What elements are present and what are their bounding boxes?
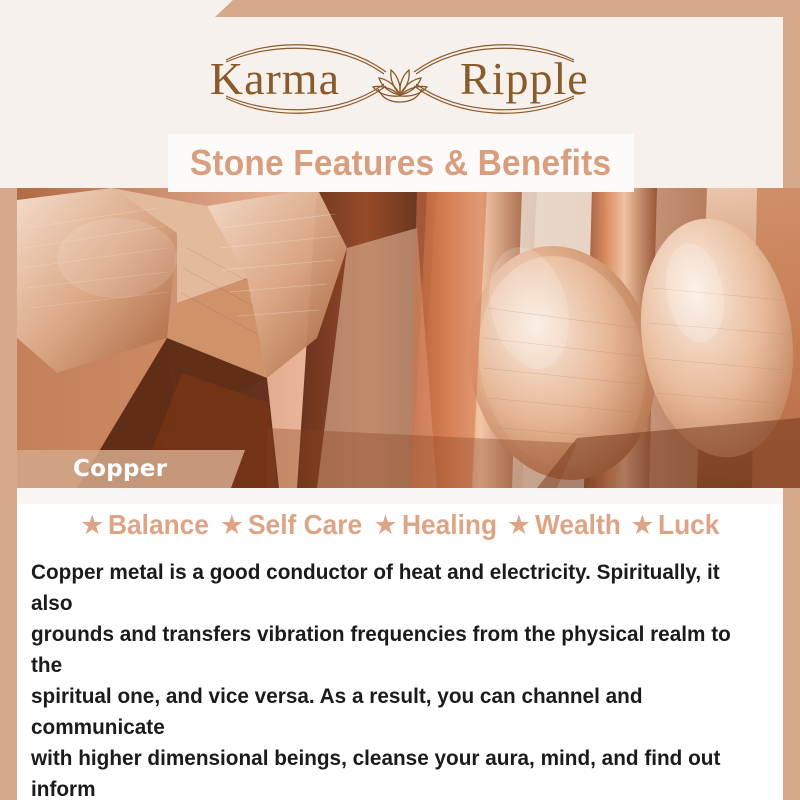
brand-logo: Karma Ripple (0, 32, 800, 124)
description-block: Copper metal is a good conductor of heat… (17, 553, 783, 800)
lotus-icon (373, 70, 427, 102)
description-line: Copper metal is a good conductor of heat… (31, 557, 753, 619)
benefit-label: Wealth (535, 509, 621, 541)
brand-name-left: Karma (210, 53, 340, 104)
infographic-page: Karma Ripple (0, 0, 800, 800)
photo-illustration (17, 188, 800, 488)
benefit-label: Healing (402, 509, 497, 541)
content-top-strip (17, 488, 783, 504)
description-line: with higher dimensional beings, cleanse … (31, 743, 753, 800)
frame-accent-left (0, 188, 17, 800)
description-line: grounds and transfers vibration frequenc… (31, 619, 753, 681)
section-title-banner: Stone Features & Benefits (168, 134, 634, 192)
benefit-item: ★ Luck (626, 509, 724, 541)
benefit-item: ★ Healing (369, 509, 502, 541)
benefit-item: ★ Self Care (216, 509, 370, 541)
photo-caption-label: Copper (73, 456, 167, 482)
frame-accent-top (215, 0, 800, 17)
description-line: spiritual one, and vice versa. As a resu… (31, 681, 753, 743)
star-icon: ★ (80, 512, 104, 539)
brand-name-right: Ripple (460, 53, 589, 104)
photo-caption-bar: Copper (17, 450, 245, 488)
benefit-item: ★ Balance (76, 509, 216, 541)
benefit-label: Luck (658, 509, 719, 541)
benefit-label: Self Care (248, 509, 362, 541)
benefits-row: ★ Balance ★ Self Care ★ Healing ★ Wealth… (17, 503, 783, 547)
copper-rods-photo (17, 188, 800, 488)
benefit-label: Balance (108, 509, 209, 541)
section-title: Stone Features & Benefits (190, 142, 611, 184)
star-icon: ★ (373, 512, 397, 539)
star-icon: ★ (507, 512, 531, 539)
star-icon: ★ (630, 512, 654, 539)
benefit-item: ★ Wealth (503, 509, 627, 541)
photo-content (17, 188, 800, 488)
brand-logo-graphic: Karma Ripple (190, 32, 610, 124)
star-icon: ★ (220, 512, 244, 539)
